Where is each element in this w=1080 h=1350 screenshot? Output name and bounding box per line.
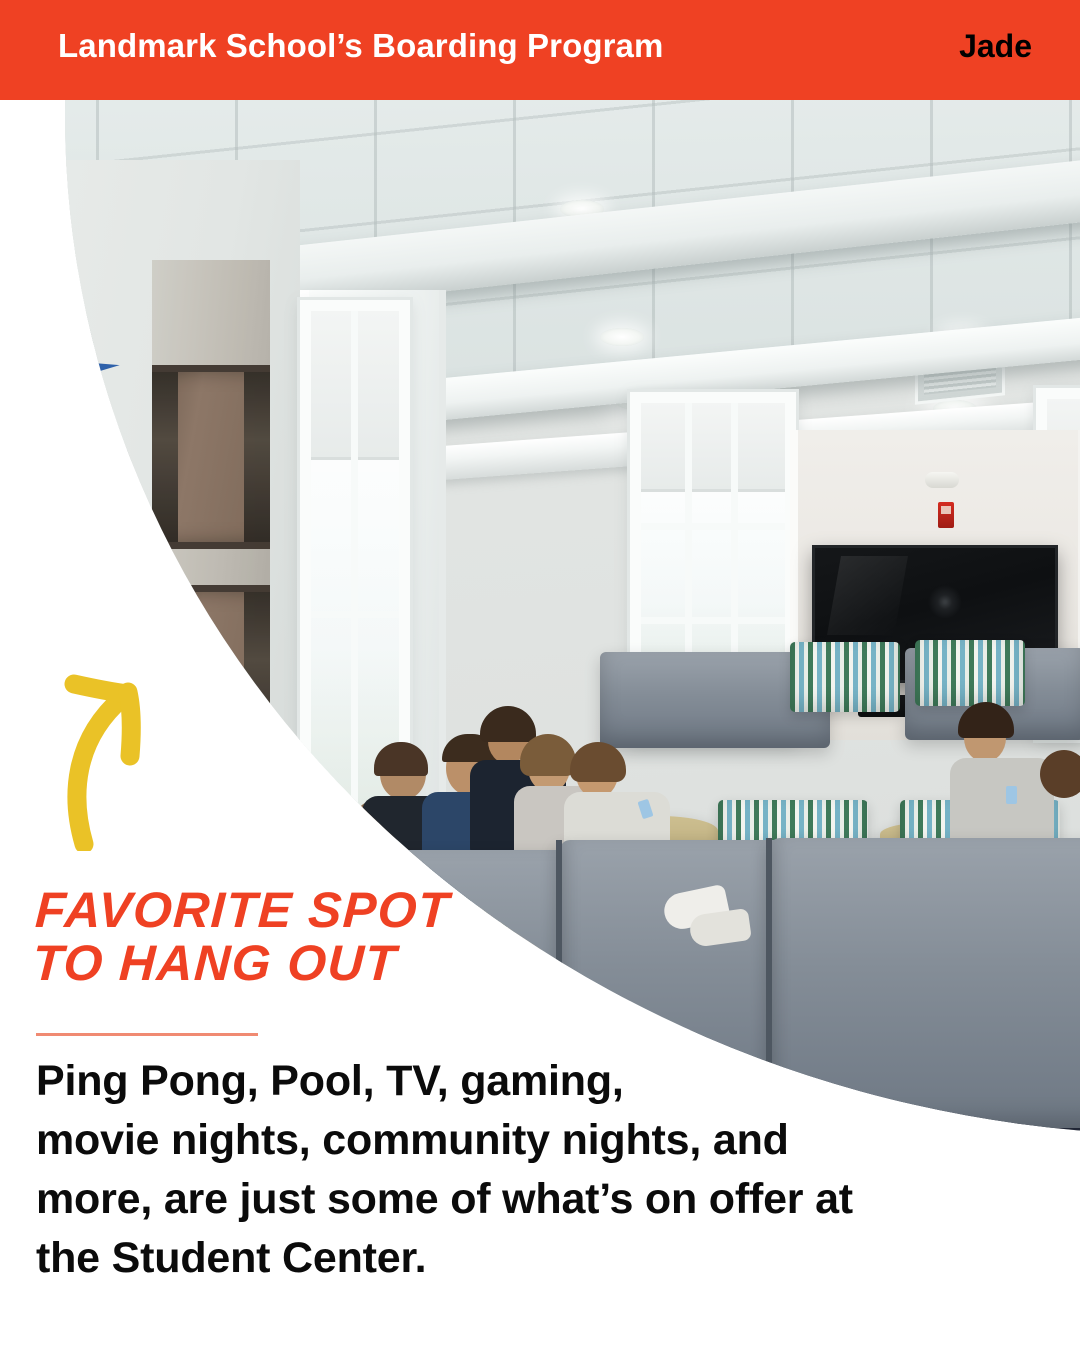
tv-screen-glare xyxy=(827,556,908,635)
window-shade xyxy=(641,403,785,492)
section-kicker: Favorite Spot to Hang Out xyxy=(31,884,637,990)
kicker-line-1: Favorite Spot xyxy=(34,884,637,937)
page-title: Landmark School’s Boarding Program xyxy=(58,27,663,65)
body-line-4: the Student Center. xyxy=(36,1229,996,1288)
body-line-2: movie nights, community nights, and xyxy=(36,1111,996,1170)
header-bar: Landmark School’s Boarding Program Jade xyxy=(0,0,1080,100)
fire-alarm-icon xyxy=(938,502,954,528)
window-mullion xyxy=(641,523,785,530)
curved-arrow-icon xyxy=(48,636,188,851)
pennant-tag xyxy=(9,354,82,391)
poster-canvas: Landmark School’s Boarding Program Jade xyxy=(0,0,1080,1350)
armchair-back xyxy=(915,640,1025,706)
pennant-tag xyxy=(5,418,77,453)
window-mullion xyxy=(641,617,785,624)
downlight-icon xyxy=(600,328,644,346)
armchair-back xyxy=(790,642,900,712)
smartphone-icon xyxy=(1006,786,1017,804)
window-mullion xyxy=(311,611,399,618)
wood-wall-panel xyxy=(152,365,270,549)
student-center-photo xyxy=(0,100,1080,1150)
smoke-detector-icon xyxy=(925,472,959,488)
body-line-1: Ping Pong, Pool, TV, gaming, xyxy=(36,1052,996,1111)
pennant-tag xyxy=(15,477,86,511)
pennant-flag-icon xyxy=(6,344,122,397)
tv-reflection xyxy=(928,585,962,619)
divider-rule xyxy=(36,1033,258,1036)
student-name-label: Jade xyxy=(959,28,1032,65)
pennant-flag-icon xyxy=(13,469,127,517)
kicker-line-2: to Hang Out xyxy=(31,937,634,990)
student-hair xyxy=(1040,750,1080,798)
photo-scene xyxy=(0,100,1080,1150)
student-torso xyxy=(950,758,1054,850)
window-mullion xyxy=(351,311,358,871)
body-copy: Ping Pong, Pool, TV, gaming, movie night… xyxy=(36,1052,996,1288)
pennant-flag-icon xyxy=(3,412,118,462)
body-line-3: more, are just some of what’s on offer a… xyxy=(36,1170,996,1229)
